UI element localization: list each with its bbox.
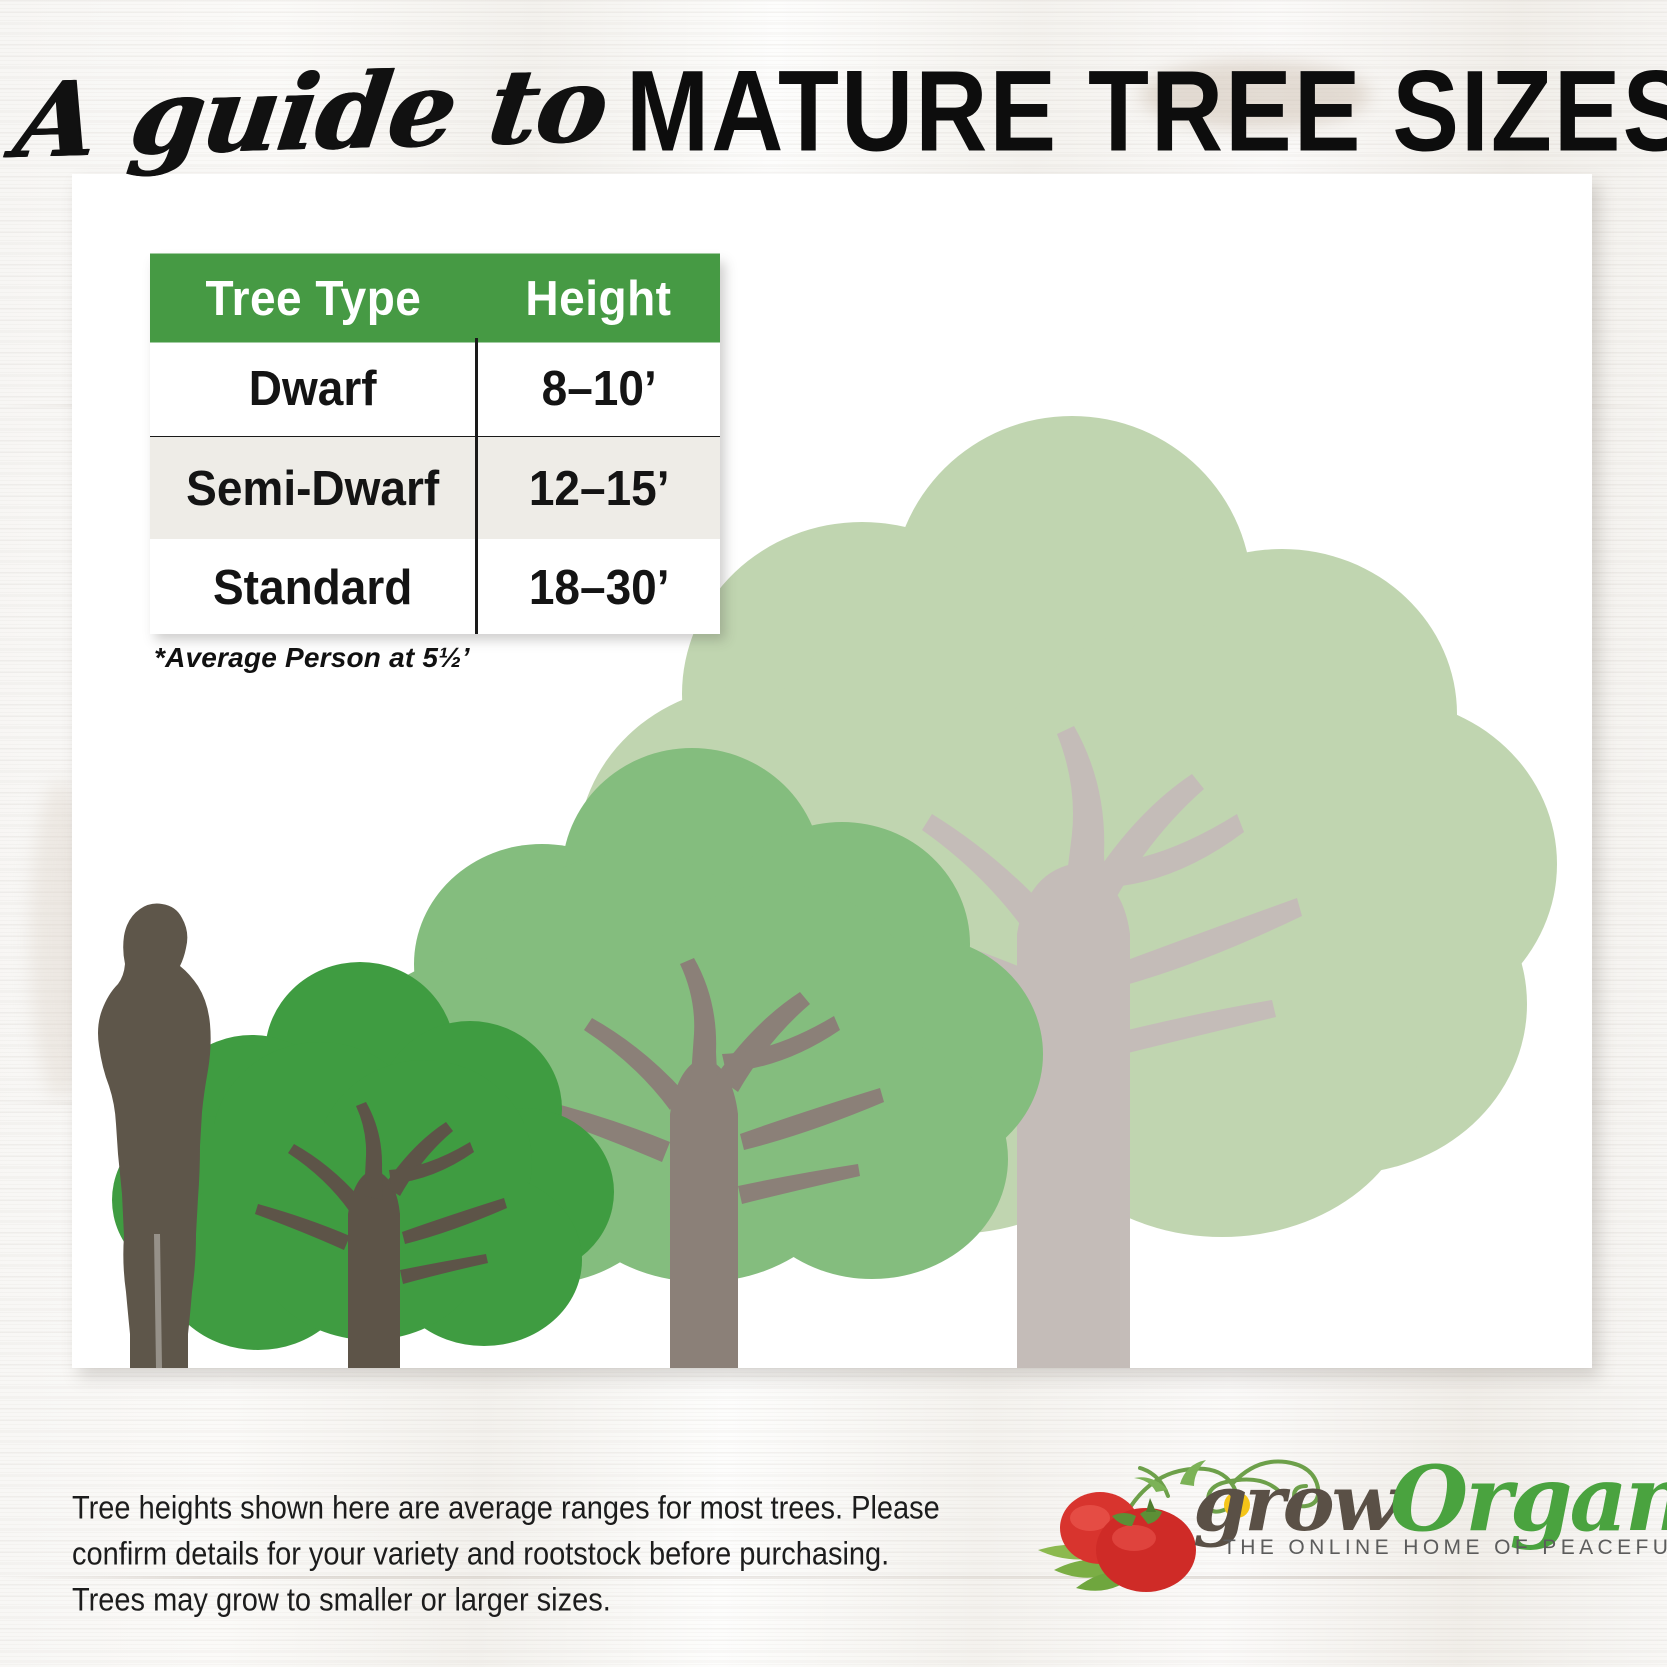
cell-height: 12–15’ xyxy=(477,435,720,540)
title-script-part: A guide to xyxy=(8,42,614,181)
table-header-row: Tree Type Height xyxy=(150,256,720,340)
page-title: A guide to MATURE TREE SIZES xyxy=(0,52,1667,172)
table-footnote: *Average Person at 5½’ xyxy=(154,642,470,674)
content-card: Tree Type Height Dwarf 8–10’ Semi-Dwarf … xyxy=(72,174,1592,1368)
column-header-height: Height xyxy=(477,253,720,342)
cell-tree-type: Standard xyxy=(150,534,477,637)
table-row: Dwarf 8–10’ xyxy=(150,340,720,438)
table-row: Semi-Dwarf 12–15’ xyxy=(150,438,720,537)
title-block-part: MATURE TREE SIZES xyxy=(626,46,1667,178)
disclaimer-text: Tree heights shown here are average rang… xyxy=(72,1486,952,1624)
sizes-table: Tree Type Height Dwarf 8–10’ Semi-Dwarf … xyxy=(150,256,720,634)
infographic-root: A guide to MATURE TREE SIZES xyxy=(0,0,1667,1667)
cell-tree-type: Semi-Dwarf xyxy=(150,435,477,540)
cell-height: 8–10’ xyxy=(477,337,720,440)
table-column-divider xyxy=(475,338,478,634)
column-header-tree-type: Tree Type xyxy=(150,253,477,342)
brand-logo[interactable]: growOrganic.COM THE ONLINE HOME OF PEACE… xyxy=(1018,1418,1618,1598)
cell-height: 18–30’ xyxy=(477,534,720,637)
cell-tree-type: Dwarf xyxy=(150,337,477,440)
table-row: Standard 18–30’ xyxy=(150,537,720,635)
logo-tagline: THE ONLINE HOME OF PEACEFUL VALLEY xyxy=(1223,1536,1667,1560)
tree-size-table: Tree Type Height Dwarf 8–10’ Semi-Dwarf … xyxy=(150,256,720,634)
